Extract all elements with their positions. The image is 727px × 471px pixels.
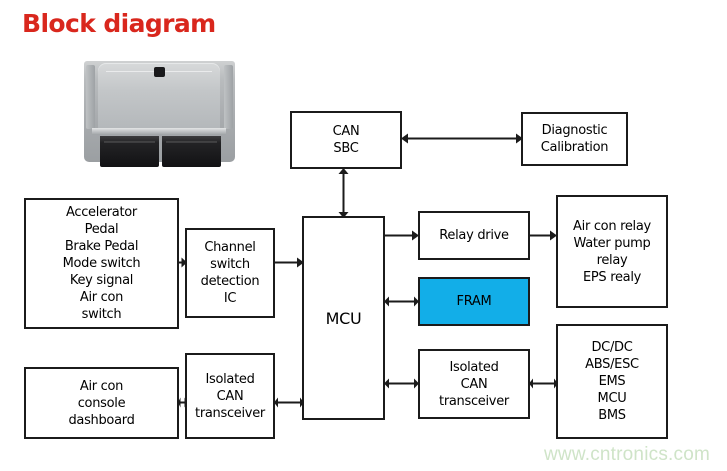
page-title: Block diagram [22, 9, 216, 38]
block-isolated-can-transceiver-left[interactable]: Isolated CAN transceiver [185, 353, 275, 439]
arrow-isolated-can-left-to-mcu [274, 396, 304, 409]
automotive-ecu-module-photo [78, 57, 241, 167]
block-inputs[interactable]: Accelerator Pedal Brake Pedal Mode switc… [24, 198, 179, 329]
ecu-vent-knob [154, 67, 165, 77]
arrow-air-con-console-to-isolated-can-left [178, 396, 187, 409]
ecu-connector-left [100, 136, 159, 167]
block-air-con-console-dashboard[interactable]: Air con console dashboard [24, 367, 179, 439]
block-isolated-can-transceiver-right[interactable]: Isolated CAN transceiver [418, 349, 530, 419]
ecu-heatsink-fin-right [224, 65, 233, 129]
block-can-sbc[interactable]: CAN SBC [290, 111, 402, 169]
arrow-can-sbc-to-mcu [337, 168, 350, 218]
block-mcu[interactable]: MCU [302, 216, 385, 420]
arrow-inputs-to-channel-switch [179, 256, 187, 269]
arrow-channel-switch-to-mcu [275, 256, 304, 269]
arrow-mcu-to-isolated-can-right [384, 377, 419, 390]
arrow-isolated-can-right-to-modules [529, 377, 558, 390]
ecu-connector-right [162, 136, 221, 167]
site-watermark: www.cntronics.com [544, 444, 710, 466]
block-relay-drive[interactable]: Relay drive [418, 211, 530, 260]
ecu-flange [92, 128, 226, 135]
block-fram[interactable]: FRAM [418, 277, 530, 326]
block-modules[interactable]: DC/DC ABS/ESC EMS MCU BMS [556, 324, 668, 439]
ecu-heatsink-fin-left [86, 65, 95, 129]
arrow-relay-drive-to-relays [530, 229, 557, 242]
arrow-can-sbc-to-diagnostic-calibration [401, 132, 523, 145]
block-channel-switch-detection-ic[interactable]: Channel switch detection IC [185, 228, 275, 318]
arrow-mcu-to-relay-drive [385, 229, 419, 242]
block-diagram-canvas: Block diagram Accelerator Pedal Brake Pe… [0, 0, 727, 471]
block-relays[interactable]: Air con relay Water pump relay EPS realy [556, 195, 668, 308]
block-diagnostic-calibration[interactable]: Diagnostic Calibration [521, 112, 628, 166]
arrow-mcu-to-fram [384, 295, 419, 308]
